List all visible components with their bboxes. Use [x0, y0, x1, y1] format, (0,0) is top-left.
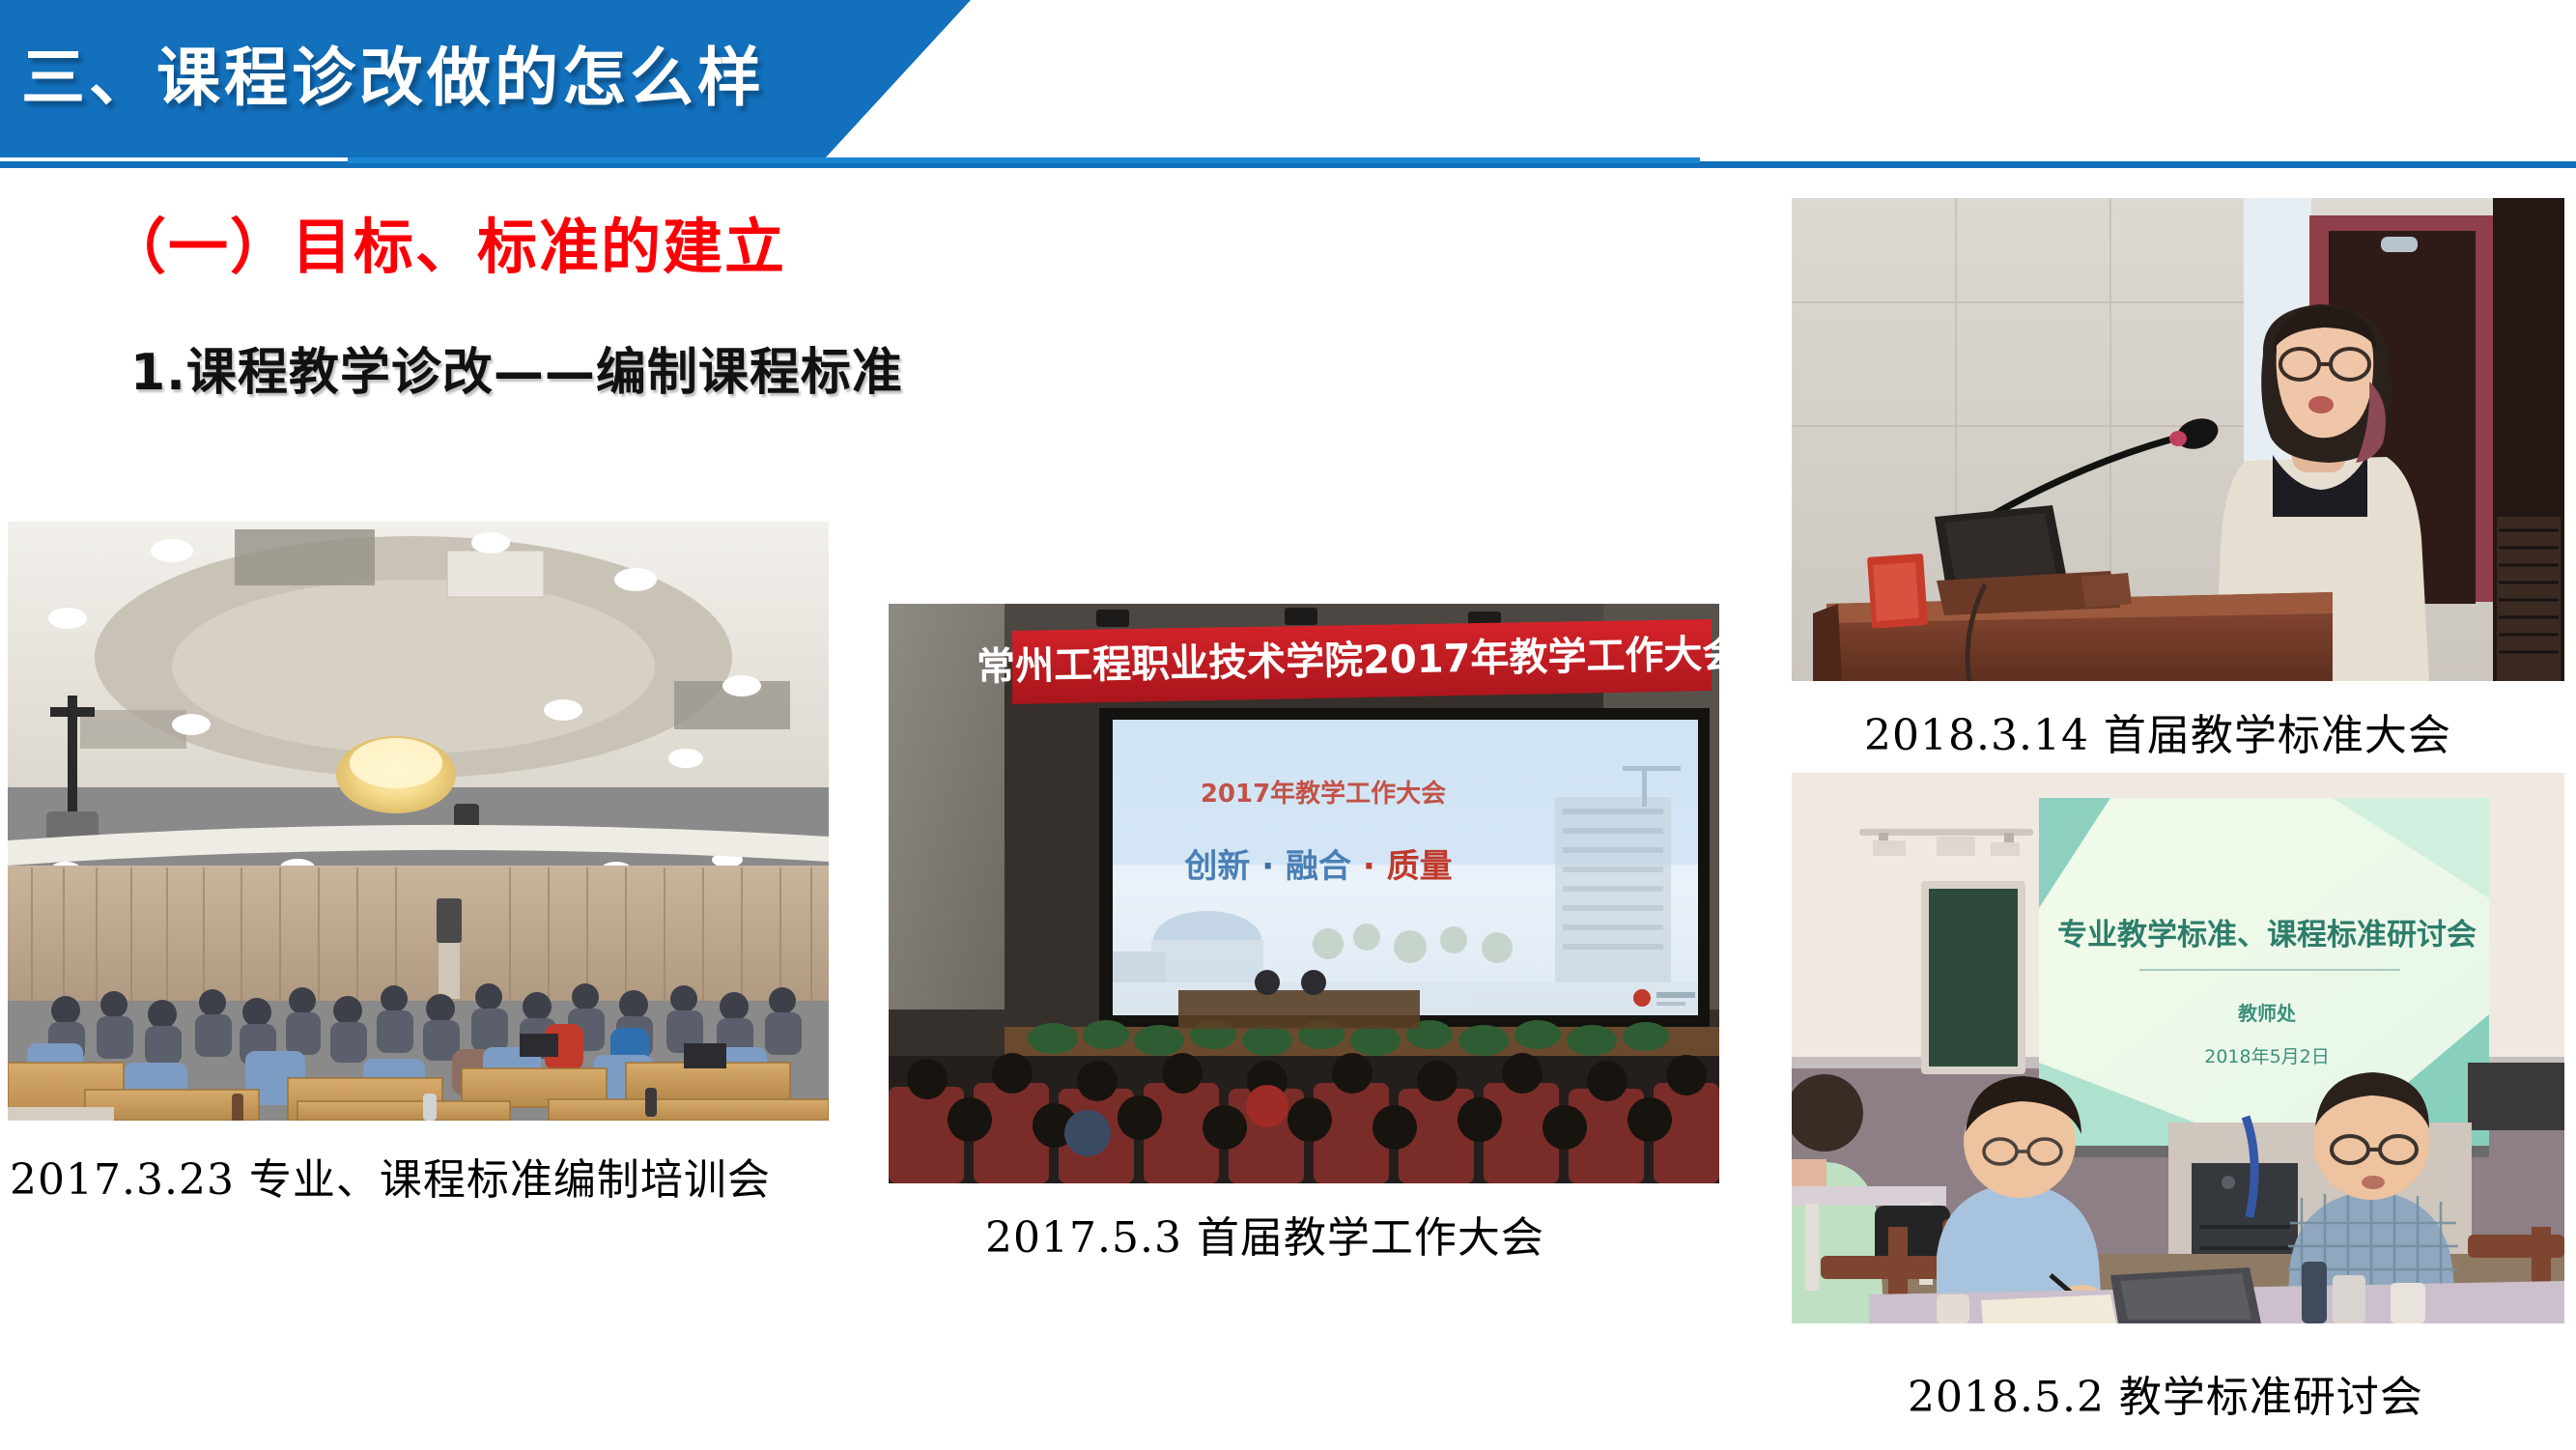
photo-seminar-discussion: 专业教学标准、课程标准研讨会 教师处 2018年5月2日: [1792, 773, 2564, 1323]
section-heading-red: （一）目标、标准的建立: [106, 198, 786, 285]
subsection-heading: 1.课程教学诊改——编制课程标准: [130, 331, 903, 404]
svg-text:教师处: 教师处: [2238, 1002, 2297, 1025]
photo-podium-speaker: [1792, 198, 2564, 681]
header-underline-accent: [348, 157, 1700, 163]
photo-caption-training-room: 2017.3.23 专业、课程标准编制培训会: [10, 1145, 771, 1207]
svg-text:创新 · 融合 · 质量: 创新 · 融合 · 质量: [1183, 847, 1452, 886]
photo-caption-seminar-discussion: 2018.5.2 教学标准研讨会: [1908, 1362, 2423, 1424]
svg-text:专业教学标准、课程标准研讨会: 专业教学标准、课程标准研讨会: [2057, 918, 2477, 952]
photo-training-room: [8, 522, 829, 1121]
svg-text:2017年教学工作大会: 2017年教学工作大会: [1201, 779, 1446, 809]
photo-teaching-conference: 常州工程职业技术学院2017年教学工作大会 2017年教学工作大会 创新 · 融…: [889, 604, 1719, 1183]
photo-caption-podium-speaker: 2018.3.14 首届教学标准大会: [1864, 700, 2451, 762]
svg-text:2018年5月2日: 2018年5月2日: [2204, 1046, 2330, 1067]
slide-header-title: 三、课程诊改做的怎么样: [21, 26, 765, 119]
photo-caption-teaching-conference: 2017.5.3 首届教学工作大会: [985, 1203, 1544, 1265]
